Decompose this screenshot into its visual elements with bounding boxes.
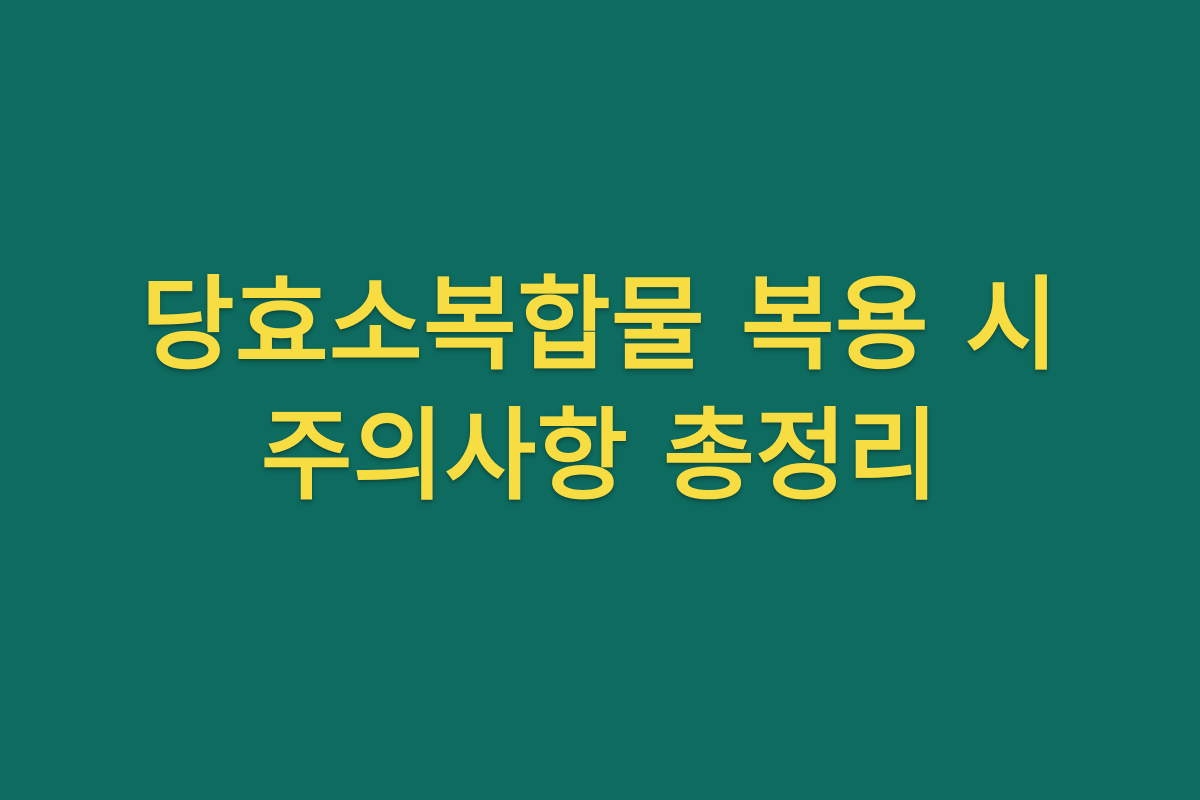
title-card: 당효소복합물 복용 시 주의사항 총정리 xyxy=(0,0,1200,800)
headline-line-2: 주의사항 총정리 xyxy=(0,392,1200,521)
headline-line-1: 당효소복합물 복용 시 xyxy=(0,259,1200,391)
headline-block: 당효소복합물 복용 시 주의사항 총정리 xyxy=(0,259,1200,520)
